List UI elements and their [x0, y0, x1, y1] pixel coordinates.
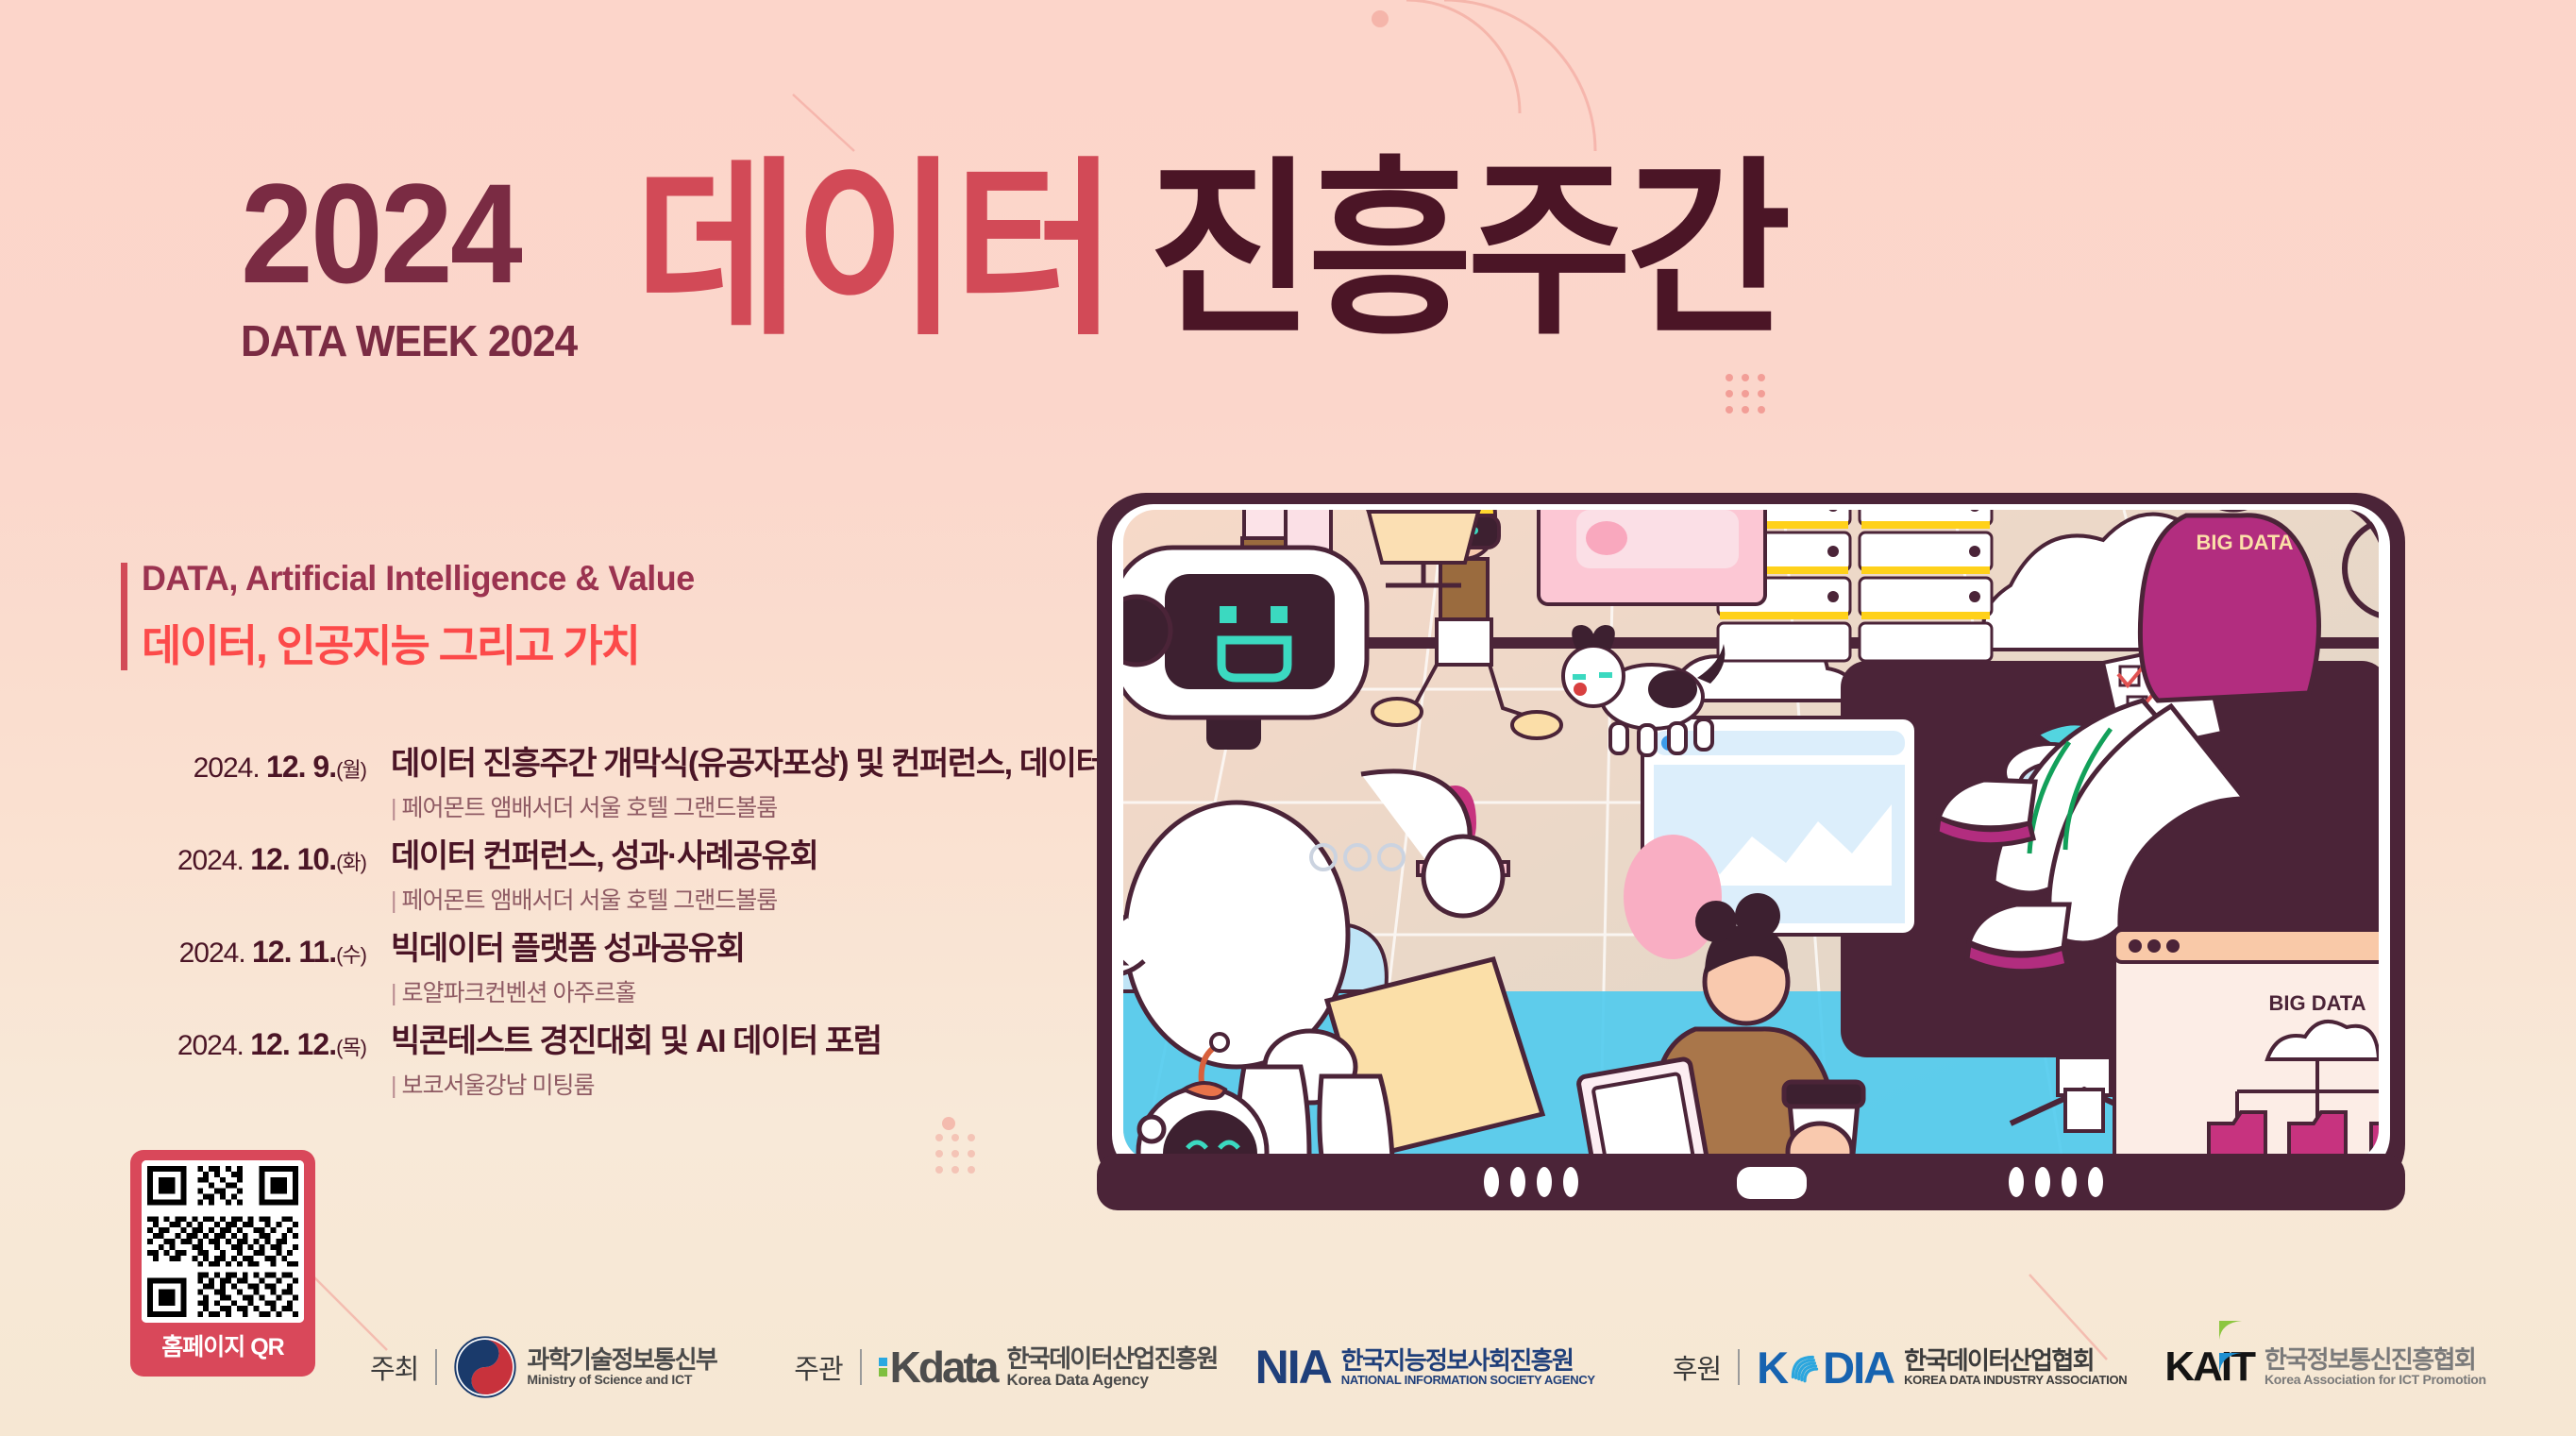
date-main: 12. 10.: [250, 842, 336, 876]
date-dow: (월): [336, 758, 366, 782]
venue-bar-icon: |: [391, 887, 396, 914]
schedule-date: 2024. 12. 10.(화): [113, 838, 391, 877]
divider: [435, 1349, 437, 1385]
footer-logos: 주최 과학기술정보통신부 Ministry of Science and ICT…: [370, 1322, 2564, 1412]
kdata-text: 한국데이터산업진흥원 Korea Data Agency: [1006, 1345, 1217, 1389]
year-block: 2024 DATA WEEK 2024: [241, 168, 591, 366]
kdata-wordmark: Kdata: [879, 1342, 997, 1393]
title-kr-dark: 진흥주간: [1149, 168, 1786, 335]
kodia-dia: DIA: [1823, 1342, 1894, 1394]
bigdata-window-label: BIG DATA: [2268, 991, 2366, 1015]
kdata-k: K: [890, 1342, 918, 1393]
nia-text: 한국지능정보사회진흥원 NATIONAL INFORMATION SOCIETY…: [1341, 1347, 1595, 1387]
date-prefix: 2024.: [177, 845, 244, 876]
schedule-venue: 보코서울강남 미팅룸: [402, 1073, 595, 1099]
kdata-mark: data: [918, 1342, 997, 1393]
kodia-name-kr: 한국데이터산업협회: [1904, 1347, 2127, 1374]
title-kr-red: 데이터: [634, 168, 1112, 335]
date-dow: (목): [336, 1036, 366, 1059]
host-group: 주최 과학기술정보통신부 Ministry of Science and ICT: [370, 1336, 754, 1398]
date-prefix: 2024.: [194, 752, 260, 784]
qr-code-image[interactable]: [142, 1160, 304, 1323]
tablet-screen: BIG DATA: [1086, 406, 2558, 1275]
schedule-date: 2024. 12. 11.(수): [113, 931, 391, 970]
organizer-group: 주관 Kdata 한국데이터산업진흥원 Korea Data Agency NI…: [794, 1340, 1633, 1394]
kodia-wordmark: K DIA: [1757, 1342, 1894, 1394]
date-dow: (화): [336, 851, 366, 874]
venue-bar-icon: |: [391, 1073, 396, 1099]
date-prefix: 2024.: [179, 938, 245, 969]
kdata-dots-icon: [879, 1357, 887, 1377]
kait-symbol-icon: [2217, 1319, 2246, 1376]
date-main: 12. 11.: [252, 935, 336, 969]
qr-card[interactable]: 홈페이지 QR: [130, 1150, 315, 1377]
kodia-text: 한국데이터산업협회 KOREA DATA INDUSTRY ASSOCIATIO…: [1904, 1347, 2127, 1387]
msit-name-kr: 과학기술정보통신부: [527, 1346, 716, 1373]
home-port: [1737, 1167, 1807, 1199]
nia-wordmark: NIA: [1255, 1340, 1331, 1394]
date-dow: (수): [336, 943, 366, 967]
schedule-venue: 페어몬트 앰배서더 서울 호텔 그랜드볼룸: [402, 795, 778, 821]
kodia-logo: K DIA 한국데이터산업협회 KOREA DATA INDUSTRY ASSO…: [1757, 1342, 2127, 1394]
pink-blob: [1624, 835, 1722, 959]
kait-name-en: Korea Association for ICT Promotion: [2265, 1373, 2486, 1387]
kodia-swirl-icon: [1785, 1347, 1825, 1387]
qr-label: 홈페이지 QR: [161, 1328, 283, 1362]
poster-canvas: 2024 DATA WEEK 2024 데이터 진흥주간 DATA, Artif…: [0, 0, 2576, 1436]
kdata-name-en: Korea Data Agency: [1006, 1372, 1217, 1389]
nia-logo: NIA 한국지능정보사회진흥원 NATIONAL INFORMATION SOC…: [1255, 1340, 1595, 1394]
kait-text: 한국정보통신진흥협회 Korea Association for ICT Pro…: [2265, 1346, 2486, 1387]
subtitle-korean: 데이터, 인공지능 그리고 가치: [142, 612, 712, 674]
host-label: 주최: [370, 1347, 418, 1387]
date-main: 12. 9.: [266, 750, 336, 784]
title-year: 2024: [241, 168, 520, 298]
venue-bar-icon: |: [391, 795, 396, 821]
msit-logo: 과학기술정보통신부 Ministry of Science and ICT: [454, 1336, 716, 1398]
bigdata-window: BIG DATA: [2114, 930, 2558, 1275]
cursor-icon: [2350, 1213, 2441, 1275]
msit-name-en: Ministry of Science and ICT: [527, 1373, 716, 1387]
subtitle-block: DATA, Artificial Intelligence & Value 데이…: [121, 559, 712, 674]
subtitle-english: DATA, Artificial Intelligence & Value: [142, 559, 695, 599]
schedule-venue: 로얄파크컨벤션 아주르홀: [402, 980, 636, 1006]
date-prefix: 2024.: [177, 1030, 244, 1061]
kait-logo: KAIT 한국정보통신진흥협회 Korea Association for IC…: [2164, 1343, 2485, 1391]
kdata-name-kr: 한국데이터산업진흥원: [1006, 1345, 1217, 1372]
msit-text: 과학기술정보통신부 Ministry of Science and ICT: [527, 1346, 716, 1387]
taegeuk-icon: [454, 1336, 516, 1398]
kdata-logo: Kdata 한국데이터산업진흥원 Korea Data Agency: [879, 1342, 1218, 1393]
venue-bar-icon: |: [391, 980, 396, 1006]
illustration-scene: BIG DATA: [1086, 406, 2558, 1275]
schedule-date: 2024. 12. 12.(목): [113, 1023, 391, 1062]
title-week-en: DATA WEEK 2024: [241, 315, 577, 366]
sponsor-label: 후원: [1673, 1347, 1721, 1387]
flying-drone-icon: [2167, 406, 2518, 457]
nia-name-en: NATIONAL INFORMATION SOCIETY AGENCY: [1341, 1374, 1595, 1387]
nia-name-kr: 한국지능정보사회진흥원: [1341, 1347, 1595, 1374]
divider: [1738, 1349, 1740, 1385]
date-main: 12. 12.: [250, 1027, 336, 1061]
kait-name-kr: 한국정보통신진흥협회: [2265, 1346, 2486, 1373]
kodia-k: K: [1757, 1342, 1787, 1394]
organizer-label: 주관: [794, 1347, 842, 1387]
schedule-venue: 페어몬트 앰배서더 서울 호텔 그랜드볼룸: [402, 887, 778, 914]
shirt-label: BIG DATA: [2196, 531, 2293, 554]
sponsor-group: 후원 K DIA 한국데이터산업협회 KOREA D: [1673, 1342, 2524, 1394]
divider: [860, 1349, 862, 1385]
poster-title: 2024 DATA WEEK 2024 데이터 진흥주간: [241, 168, 1786, 366]
schedule-date: 2024. 12. 9.(월): [113, 746, 391, 785]
kodia-name-en: KOREA DATA INDUSTRY ASSOCIATION: [1904, 1374, 2127, 1387]
